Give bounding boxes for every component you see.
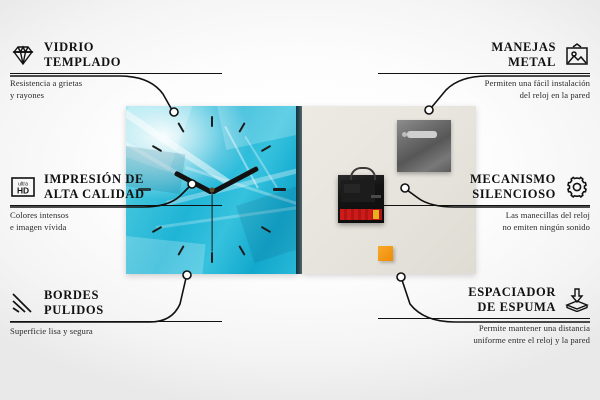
callout-rule	[378, 205, 590, 207]
callout-vidrio-templado[interactable]: VIDRIO TEMPLADO Resistencia a grietas y …	[10, 40, 222, 101]
callout-rule	[10, 205, 222, 207]
callout-desc-line2: y rayones	[10, 90, 44, 100]
callout-rule	[10, 73, 222, 75]
callout-desc-line2: uniforme entre el reloj y la pared	[474, 335, 591, 345]
callout-espaciador-espuma[interactable]: ESPACIADOR DE ESPUMA Permite mantener un…	[378, 285, 590, 346]
hanger-slot	[407, 131, 437, 138]
callout-rule	[10, 321, 222, 323]
ultra-hd-icon: ultra HD	[10, 175, 36, 199]
clock-tick	[261, 145, 272, 152]
callout-desc-line1: Resistencia a grietas	[10, 78, 82, 88]
callout-title-line1: MECANISMO	[470, 172, 556, 186]
mechanism-hanger-arch	[350, 167, 376, 180]
foam-spacer	[378, 246, 393, 261]
callout-rule	[378, 73, 590, 75]
callout-desc-line1: Permite mantener una distancia	[479, 323, 590, 333]
callout-title-line1: MANEJAS	[491, 40, 556, 54]
callout-title-line1: BORDES	[44, 288, 99, 302]
callout-title-line1: IMPRESIÓN DE	[44, 172, 144, 186]
hanger-plate	[397, 120, 451, 172]
clock-tick	[238, 245, 245, 256]
clock-tick	[211, 252, 213, 263]
callout-desc-line1: Colores intensos	[10, 210, 69, 220]
callout-title-line2: METAL	[508, 55, 556, 69]
arrow-down-pad-icon	[564, 288, 590, 312]
picture-frame-hanger-icon	[564, 43, 590, 67]
callout-desc-line1: Las manecillas del reloj	[506, 210, 590, 220]
callout-title-line2: TEMPLADO	[44, 55, 121, 69]
callout-desc-line1: Superficie lisa y segura	[10, 326, 93, 336]
callout-title-line1: ESPACIADOR	[468, 285, 556, 299]
callout-rule	[378, 318, 590, 320]
callout-mecanismo-silencioso[interactable]: MECANISMO SILENCIOSO Las manecillas del …	[378, 172, 590, 233]
callout-manejas-metal[interactable]: MANEJAS METAL Permiten una fácil instala…	[378, 40, 590, 101]
diagonal-lines-icon	[10, 291, 36, 315]
callout-desc-line1: Permiten una fácil instalación	[485, 78, 590, 88]
callout-title-line1: VIDRIO	[44, 40, 94, 54]
callout-title-line2: SILENCIOSO	[472, 187, 556, 201]
callout-title-line2: PULIDOS	[44, 303, 104, 317]
callout-title-line2: ALTA CALIDAD	[44, 187, 145, 201]
callout-bordes-pulidos[interactable]: BORDES PULIDOS Superficie lisa y segura	[10, 288, 222, 338]
callout-impresion-alta-calidad[interactable]: ultra HD IMPRESIÓN DE ALTA CALIDAD Color…	[10, 172, 222, 233]
mechanism-body	[341, 180, 375, 202]
svg-text:HD: HD	[17, 185, 29, 195]
battery-compartment	[340, 209, 382, 220]
infographic-canvas: VIDRIO TEMPLADO Resistencia a grietas y …	[0, 0, 600, 400]
clock-tick	[211, 116, 213, 127]
callout-desc-line2: e imagen vívida	[10, 222, 66, 232]
callout-desc-line2: no emiten ningún sonido	[502, 222, 590, 232]
callout-desc-line2: del reloj en la pared	[520, 90, 590, 100]
callout-title-line2: DE ESPUMA	[477, 300, 556, 314]
connector-dot	[397, 273, 405, 281]
diamond-icon	[10, 43, 36, 67]
gear-icon	[564, 175, 590, 199]
clock-tick	[273, 188, 286, 191]
